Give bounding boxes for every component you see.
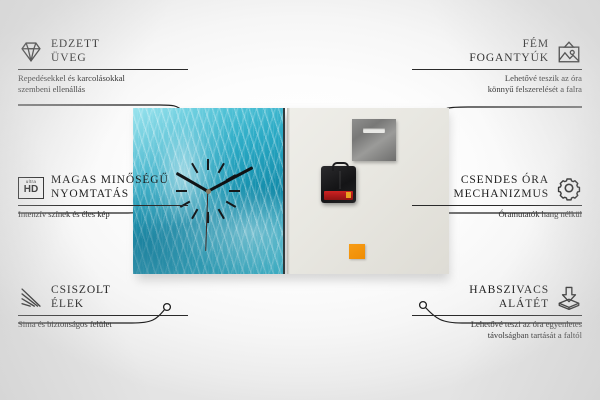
feature-title-line1: HABSZIVACS [469,284,549,298]
feature-title: FÉM FOGANTYÚK [469,38,549,65]
diamond-icon [18,39,44,65]
feature-title-line2: NYOMTATÁS [51,188,169,202]
feature-desc: Óramutatók hang nélkül [412,209,582,220]
feature-title: EDZETT ÜVEG [51,38,100,65]
feature-csiszolt-elek: CSISZOLT ÉLEK Sima és biztonságos felüle… [18,284,188,330]
feature-edzett-uveg: EDZETT ÜVEG Repedésekkel és karcolásokka… [18,38,188,94]
quartz-mechanism [321,166,356,203]
feature-title: HABSZIVACS ALÁTÉT [469,284,549,311]
feature-header: HABSZIVACS ALÁTÉT [412,284,582,311]
feature-title-line2: FOGANTYÚK [469,52,549,66]
ultra-hd-icon-main-text: HD [24,185,38,195]
battery [324,191,353,200]
feature-rule [18,315,188,316]
feature-magas-minosegu-nyomtatas: MAGAS MINŐSÉGŰ NYOMTATÁS ultra HD Intenz… [18,174,188,220]
feature-rule [412,69,582,70]
feature-title-line1: CSENDES ÓRA [453,174,549,188]
feature-desc: Intenzív színek és éles kép [18,209,188,220]
feature-fem-fogantyuk: FÉM FOGANTYÚK Lehetővé teszik az óra kön… [412,38,582,94]
feature-desc-line2: könnyű felszerelését a falra [412,84,582,95]
feature-header: MAGAS MINŐSÉGŰ NYOMTATÁS ultra HD [18,174,188,201]
battery-terminal [346,192,351,198]
feature-rule [412,205,582,206]
picture-hanger-icon [556,39,582,65]
feature-desc-line1: Intenzív színek és éles kép [18,209,188,220]
feature-csendes-ora-mechanizmus: CSENDES ÓRA MECHANIZMUS Óramutatók hang … [412,174,582,220]
feature-title-line1: CSISZOLT [51,284,111,298]
feature-rule [18,69,188,70]
feature-desc: Repedésekkel és karcolásokkal szembeni e… [18,73,188,94]
mechanism-knob [332,162,349,171]
feature-title: MAGAS MINŐSÉGŰ NYOMTATÁS [51,174,169,201]
feature-desc: Lehetővé teszik az óra könnyű felszerelé… [412,73,582,94]
ultra-hd-icon: ultra HD [18,177,44,199]
feature-habszivacs-alatet: HABSZIVACS ALÁTÉT Lehetővé teszi az óra … [412,284,582,340]
feature-title-line2: ÉLEK [51,298,111,312]
feature-title-line2: MECHANIZMUS [453,188,549,202]
feature-title-line1: MAGAS MINŐSÉGŰ [51,174,169,188]
feature-desc-line1: Óramutatók hang nélkül [412,209,582,220]
feature-title-line2: ALÁTÉT [469,298,549,312]
feature-desc: Sima és biztonságos felület [18,319,188,330]
feature-desc: Lehetővé teszi az óra egyenletes távolsá… [412,319,582,340]
feature-desc-line1: Lehetővé teszik az óra [412,73,582,84]
feature-title-line2: ÜVEG [51,52,100,66]
mechanism-seam [339,171,341,189]
feature-header: CSENDES ÓRA MECHANIZMUS [412,174,582,201]
feature-rule [412,315,582,316]
metal-hanger-icon [352,119,396,161]
feature-desc-line2: szembeni ellenállás [18,84,188,95]
feature-desc-line1: Repedésekkel és karcolásokkal [18,73,188,84]
feature-title: CSISZOLT ÉLEK [51,284,111,311]
clock-center-cap [206,189,211,194]
infographic-canvas: EDZETT ÜVEG Repedésekkel és karcolásokka… [0,0,600,400]
feature-rule [18,205,188,206]
feature-desc-line1: Sima és biztonságos felület [18,319,188,330]
polished-edges-icon [18,285,44,311]
feature-title-line1: FÉM [469,38,549,52]
hanger-slot [363,128,385,133]
feature-desc-line2: távolságban tartását a faltól [412,330,582,341]
foam-pad-icon [556,285,582,311]
feature-title: CSENDES ÓRA MECHANIZMUS [453,174,549,201]
panel-edge [287,108,290,274]
feature-desc-line1: Lehetővé teszi az óra egyenletes [412,319,582,330]
feature-title-line1: EDZETT [51,38,100,52]
gear-icon [556,175,582,201]
connector-line-fem-fogantyuk [436,107,582,117]
feature-header: EDZETT ÜVEG [18,38,188,65]
feature-header: CSISZOLT ÉLEK [18,284,188,311]
foam-pad [349,244,365,259]
feature-header: FÉM FOGANTYÚK [412,38,582,65]
